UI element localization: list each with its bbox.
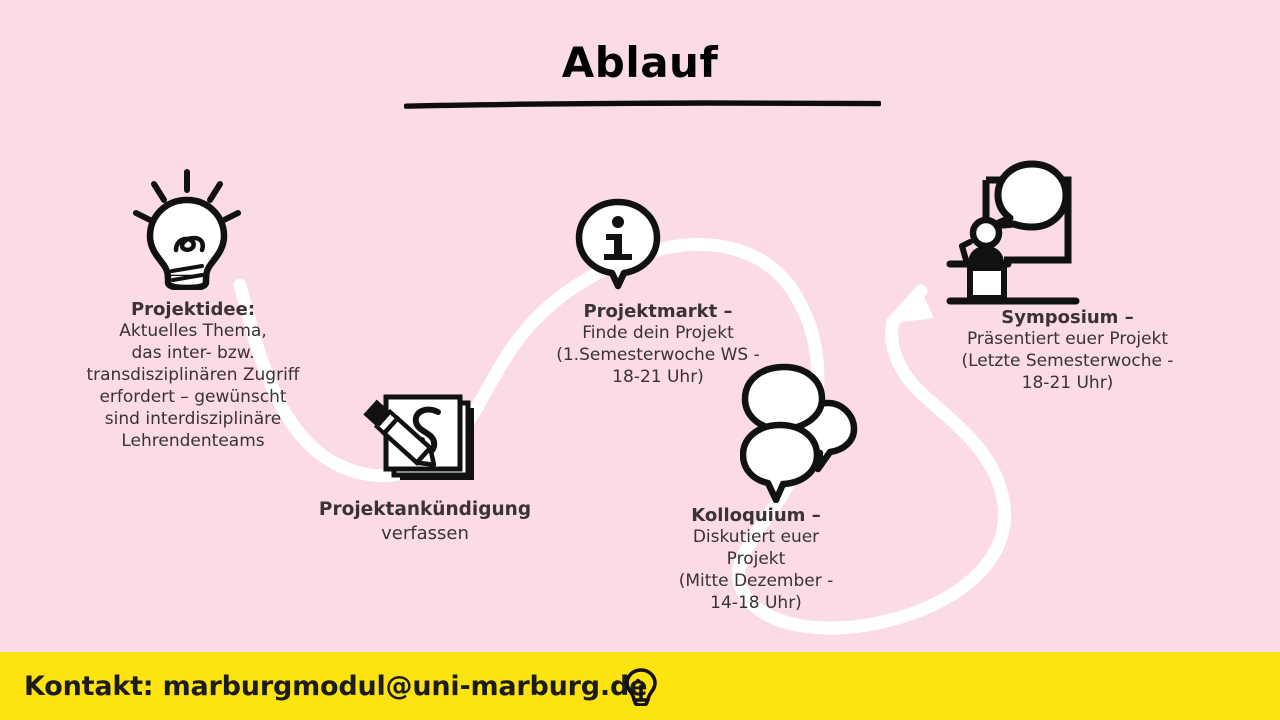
lightbulb-icon — [132, 168, 242, 290]
step-lead: Projektidee: — [48, 298, 338, 321]
step-line: 14-18 Uhr) — [650, 593, 862, 615]
step-line: transdisziplinären Zugriff — [48, 365, 338, 387]
info-bubble-icon — [574, 198, 662, 290]
page-title: Ablauf — [0, 38, 1280, 87]
slide-root: Ablauf — [0, 0, 1280, 720]
step-line: (Mitte Dezember - — [650, 571, 862, 593]
step-line: sind interdisziplinäre — [48, 409, 338, 431]
step-line: erfordert – gewünscht — [48, 387, 338, 409]
step-line: Diskutiert euer — [650, 527, 862, 549]
step-line: das inter- bzw. — [48, 343, 338, 365]
step-lead: Kolloquium – — [650, 504, 862, 527]
step-line: Lehrendenteams — [48, 431, 338, 453]
step-label-projektankuendigung: Projektankündigung verfassen — [305, 498, 545, 545]
step-label-projektmarkt: Projektmarkt – Finde dein Projekt (1.Sem… — [518, 300, 798, 389]
step-line: 18-21 Uhr) — [925, 373, 1210, 395]
step-label-kolloquium: Kolloquium – Diskutiert euer Projekt (Mi… — [650, 504, 862, 615]
presenter-podium-icon — [946, 160, 1086, 308]
step-line: (1.Semesterwoche WS - — [518, 345, 798, 367]
step-label-projektidee: Projektidee: Aktuelles Thema, das inter-… — [48, 298, 338, 453]
step-line: Präsentiert euer Projekt — [925, 329, 1210, 351]
step-line: Aktuelles Thema, — [48, 321, 338, 343]
step-lead: Projektmarkt – — [518, 300, 798, 323]
title-underline — [404, 100, 881, 109]
step-line: 18-21 Uhr) — [518, 367, 798, 389]
step-lead: Projektankündigung — [305, 498, 545, 522]
step-line: Finde dein Projekt — [518, 323, 798, 345]
step-line: Projekt — [650, 549, 862, 571]
step-line: (Letzte Semesterwoche - — [925, 351, 1210, 373]
step-line: verfassen — [305, 522, 545, 545]
contact-text: Kontakt: marburgmodul@uni-marburg.de — [24, 671, 647, 702]
step-lead: Symposium – — [925, 306, 1210, 329]
pencil-paper-icon — [352, 392, 478, 484]
lightbulb-icon — [624, 668, 658, 710]
step-label-symposium: Symposium – Präsentiert euer Projekt (Le… — [925, 306, 1210, 395]
